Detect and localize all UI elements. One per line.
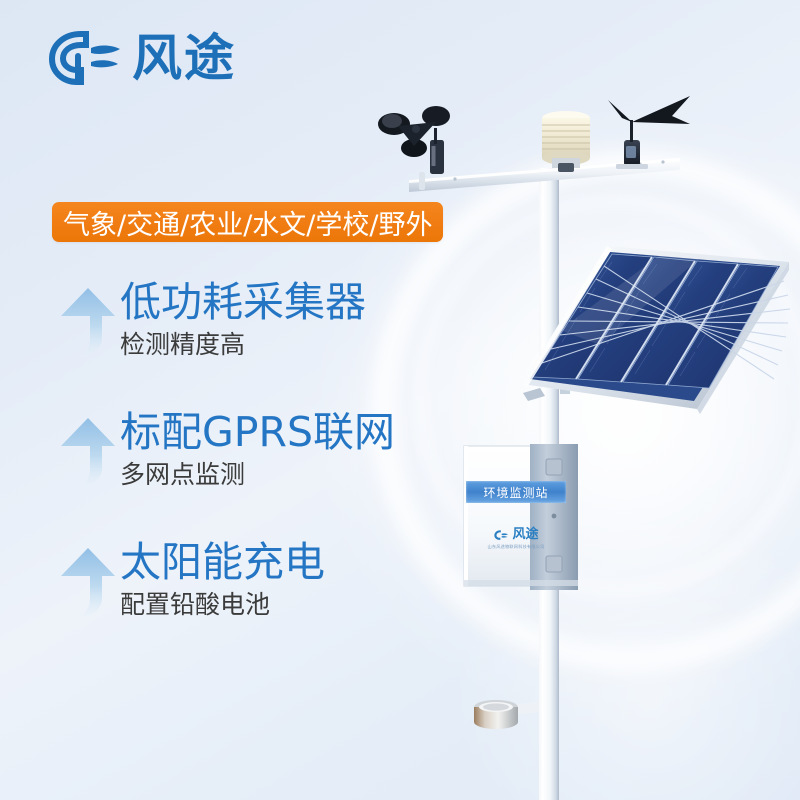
- poster-canvas: 环境监测站 风途 山东风途物联网科技有限公司 风途 气象/交通/农业/水文/学校…: [0, 0, 800, 800]
- up-arrow-icon: [58, 416, 118, 488]
- feature-item: 低功耗采集器 检测精度高: [58, 278, 428, 408]
- wind-speed-cup-sensor: [378, 106, 450, 174]
- up-arrow-icon: [58, 546, 118, 618]
- control-box: [464, 444, 578, 590]
- feature-list: 低功耗采集器 检测精度高 标配GPRS联网 多网点监测: [58, 278, 428, 668]
- corner-glow: [440, 520, 800, 800]
- control-box-brand-text: 风途: [512, 528, 538, 541]
- center-glow: [430, 210, 800, 610]
- rain-gauge: [474, 700, 539, 729]
- brand-logo: 风途: [48, 30, 236, 86]
- feature-item: 太阳能充电 配置铅酸电池: [58, 538, 428, 668]
- control-box-label: 环境监测站: [466, 481, 566, 503]
- feature-item: 标配GPRS联网 多网点监测: [58, 408, 428, 538]
- brand-name: 风途: [132, 33, 236, 83]
- temperature-humidity-radiation-shield: [542, 111, 590, 172]
- solar-cells: [533, 254, 790, 388]
- solar-panel: [522, 246, 790, 414]
- control-box-company: 山东风途物联网科技有限公司: [470, 544, 562, 550]
- up-arrow-icon: [58, 286, 118, 358]
- control-box-brand: 风途 山东风途物联网科技有限公司: [470, 528, 562, 550]
- feature-title: 低功耗采集器: [120, 278, 366, 326]
- feature-title: 太阳能充电: [120, 538, 325, 586]
- feature-title: 标配GPRS联网: [120, 408, 395, 456]
- wind-direction-vane-sensor: [608, 96, 690, 169]
- fengtu-g-leaf-icon-small: [493, 529, 509, 541]
- sensor-crossarm: [409, 158, 680, 192]
- feature-subtitle: 配置铅酸电池: [120, 590, 325, 620]
- feature-subtitle: 多网点监测: [120, 460, 395, 490]
- feature-subtitle: 检测精度高: [120, 330, 366, 360]
- fengtu-g-leaf-logo-icon: [48, 30, 122, 86]
- category-tag: 气象/交通/农业/水文/学校/野外: [52, 202, 443, 242]
